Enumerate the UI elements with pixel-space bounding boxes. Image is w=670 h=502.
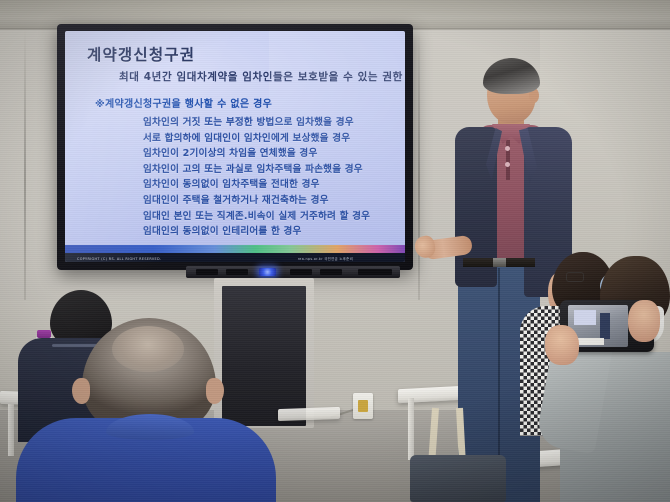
slide-bullet-item: 임차인이 동의없이 임차주택을 전대한 경우	[143, 177, 370, 193]
slide-bullet-item: 임차인이 2기이상의 차임을 연체했을 경우	[143, 146, 370, 162]
slide-bullet-item: 임차인이 고의 또는 과실로 임차주택을 파손했을 경우	[143, 162, 370, 178]
slide-url: rea.nps.or.kr 국민연금 노후준비	[298, 256, 353, 261]
slide-note: ※계약갱신청구권을 행사할 수 없은 경우	[95, 95, 272, 110]
wall-mounted-tv: 계약갱신청구권 최대 4년간 임대차계약을 임차인들은 보호받을 수 있는 권한…	[57, 24, 413, 270]
hand-right	[628, 300, 660, 342]
desk-leg	[408, 398, 414, 460]
soundbar-vent	[196, 269, 218, 275]
presentation-slide: 계약갱신청구권 최대 4년간 임대차계약을 임차인들은 보호받을 수 있는 권한…	[65, 31, 405, 262]
slide-copyright: COPYRIGHT (C) RS. ALL RIGHT RESERVED.	[77, 257, 161, 261]
presenter-shirt-button	[505, 146, 510, 151]
tv-panel: 계약갱신청구권 최대 4년간 임대차계약을 임차인들은 보호받을 수 있는 권한…	[65, 31, 405, 262]
belt-buckle	[493, 258, 506, 267]
slide-bullet-list: 임차인의 거짓 또는 부정한 방법으로 임차했을 경우 서로 합의하에 임대인이…	[143, 115, 370, 240]
speaker-column	[214, 278, 314, 428]
slide-title: 계약갱신청구권	[87, 43, 195, 65]
slide-bullet-item: 임대인의 동의없이 인테리어를 한 경우	[143, 224, 370, 240]
slide-color-bar	[65, 245, 405, 253]
bag	[410, 455, 506, 502]
bottle-cap	[37, 330, 51, 338]
outlet-socket-icon	[358, 400, 368, 412]
audience-ear-left	[72, 378, 90, 404]
slide-bullet-item: 임대인 본인 또는 직계존.비속이 실제 거주하려 할 경우	[143, 209, 370, 225]
soundbar-vent	[358, 269, 392, 275]
wall-panel-seam-right	[418, 30, 420, 330]
soundbar-vent	[320, 269, 342, 275]
audience-scalp	[112, 326, 184, 372]
wall-panel-seam-left	[24, 30, 26, 330]
lecture-room-photo: 계약갱신청구권 최대 4년간 임대차계약을 임차인들은 보호받을 수 있는 권한…	[0, 0, 670, 502]
phone-preview-slide	[574, 310, 596, 325]
glasses-icon	[566, 272, 584, 282]
soundbar-vent	[226, 269, 248, 275]
slide-bullet-item: 임차인의 거짓 또는 부정한 방법으로 임차했을 경우	[143, 115, 370, 131]
desk	[278, 407, 340, 421]
hand-left	[545, 325, 579, 365]
slide-subtitle: 최대 4년간 임대차계약을 임차인들은 보호받을 수 있는 권한	[119, 69, 403, 84]
presenter-shirt-button	[505, 162, 510, 167]
slide-footer-strip: COPYRIGHT (C) RS. ALL RIGHT RESERVED. re…	[65, 253, 405, 262]
phone-preview-presenter	[600, 313, 610, 339]
slide-bullet-item: 임대인이 주택을 철거하거나 재건축하는 경우	[143, 193, 370, 209]
wall-outlet	[353, 393, 373, 419]
speaker-grille	[222, 286, 306, 426]
soundbar	[186, 266, 400, 278]
desk-leg	[8, 404, 14, 456]
slide-bullet-item: 서로 합의하에 임대인이 임차인에게 보상했을 경우	[143, 131, 370, 147]
soundbar-vent	[290, 269, 312, 275]
power-led-icon	[259, 268, 276, 276]
